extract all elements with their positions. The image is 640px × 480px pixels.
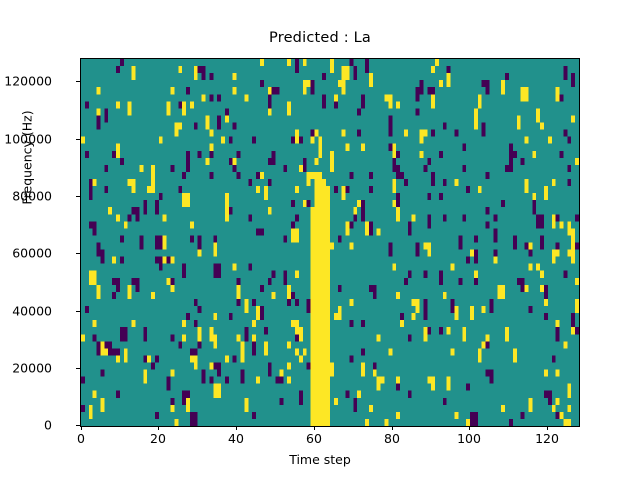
ytick-mark-120000: [76, 81, 80, 82]
ytick-label-40000: 40000: [0, 304, 52, 319]
ytick-mark-20000: [76, 368, 80, 369]
matplotlib-figure: Predicted : La 0 20000 40000 60000 80000…: [0, 0, 640, 480]
xtick-mark-120: [547, 426, 548, 430]
xtick-mark-20: [158, 426, 159, 430]
ytick-mark-60000: [76, 253, 80, 254]
x-axis-label: Time step: [0, 452, 640, 467]
ytick-mark-0: [76, 425, 80, 426]
ytick-mark-80000: [76, 196, 80, 197]
xtick-mark-100: [469, 426, 470, 430]
ytick-mark-100000: [76, 139, 80, 140]
ytick-mark-40000: [76, 311, 80, 312]
heatmap-axes: [80, 58, 580, 427]
xtick-mark-0: [81, 426, 82, 430]
xtick-label-20: 20: [118, 431, 198, 446]
xtick-label-100: 100: [429, 431, 509, 446]
y-axis-label: Frequency (Hz): [20, 38, 35, 278]
xtick-label-40: 40: [196, 431, 276, 446]
xtick-mark-40: [236, 426, 237, 430]
ytick-label-20000: 20000: [0, 361, 52, 376]
xtick-mark-80: [392, 426, 393, 430]
xtick-mark-60: [314, 426, 315, 430]
xtick-label-0: 0: [41, 431, 121, 446]
xtick-label-80: 80: [352, 431, 432, 446]
xtick-label-120: 120: [507, 431, 587, 446]
spectrogram-heatmap: [81, 59, 579, 426]
chart-title: Predicted : La: [0, 30, 640, 46]
xtick-label-60: 60: [274, 431, 354, 446]
